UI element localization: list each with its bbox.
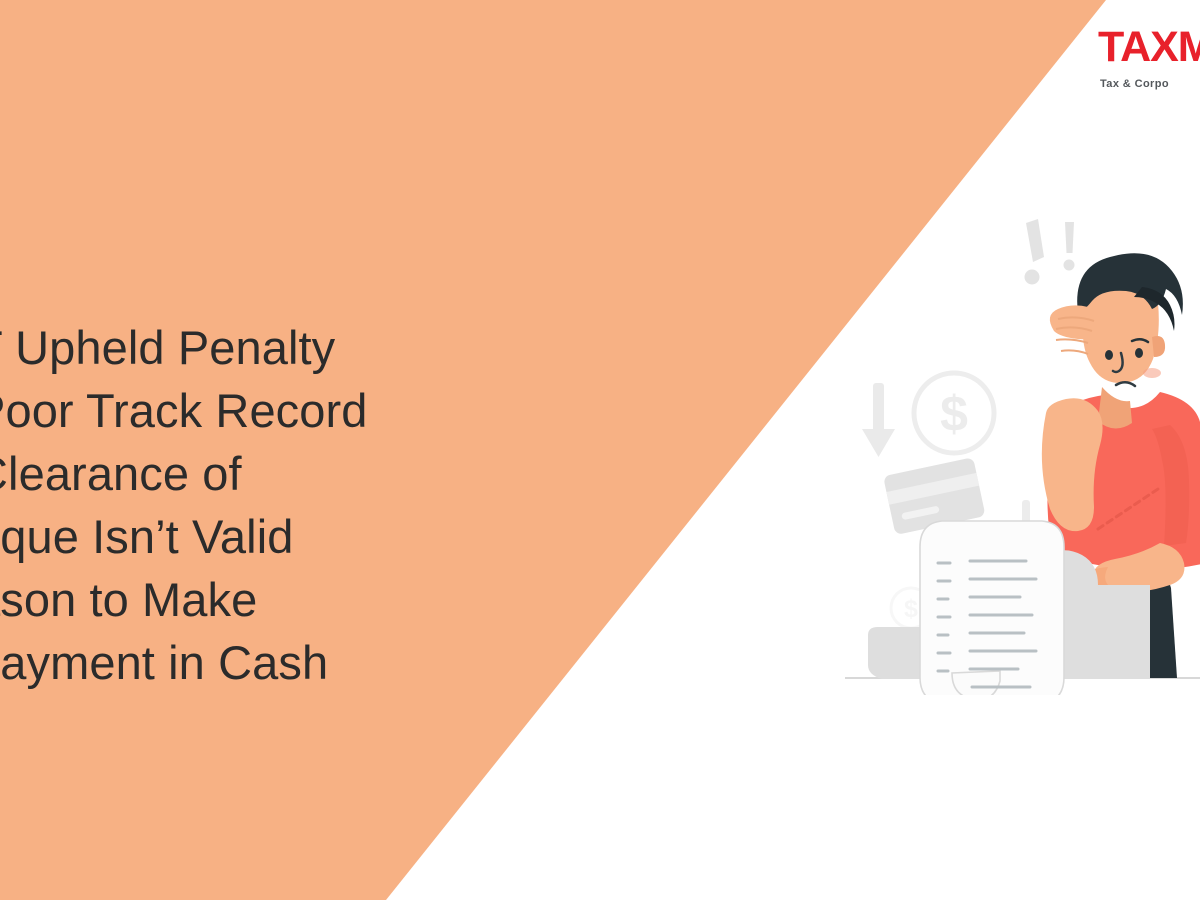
logo-wordmark: TAXM (1098, 22, 1200, 72)
logo-tagline: Tax & Corpo (1100, 76, 1200, 92)
dollar-coin-upper: $ (914, 373, 994, 453)
hero-illustration: $ $ (840, 195, 1200, 695)
headline-line-6: payment in Cash (0, 631, 520, 694)
headline-line-1: T Upheld Penalty (0, 316, 520, 379)
exclamation-marks (1025, 219, 1075, 285)
svg-text:$: $ (904, 595, 918, 623)
receipt-roll (920, 521, 1064, 695)
article-banner: T Upheld Penalty Poor Track Record Clear… (0, 0, 1200, 900)
down-arrow-left (862, 383, 895, 457)
brand-logo[interactable]: TAXM Tax & Corpo (1098, 22, 1200, 92)
headline-line-4: eque Isn’t Valid (0, 505, 520, 568)
headline-line-2: Poor Track Record (0, 379, 520, 442)
page-title: T Upheld Penalty Poor Track Record Clear… (0, 316, 520, 694)
headline-line-5: ason to Make (0, 568, 520, 631)
svg-text:$: $ (940, 386, 968, 442)
headline-line-3: Clearance of (0, 442, 520, 505)
